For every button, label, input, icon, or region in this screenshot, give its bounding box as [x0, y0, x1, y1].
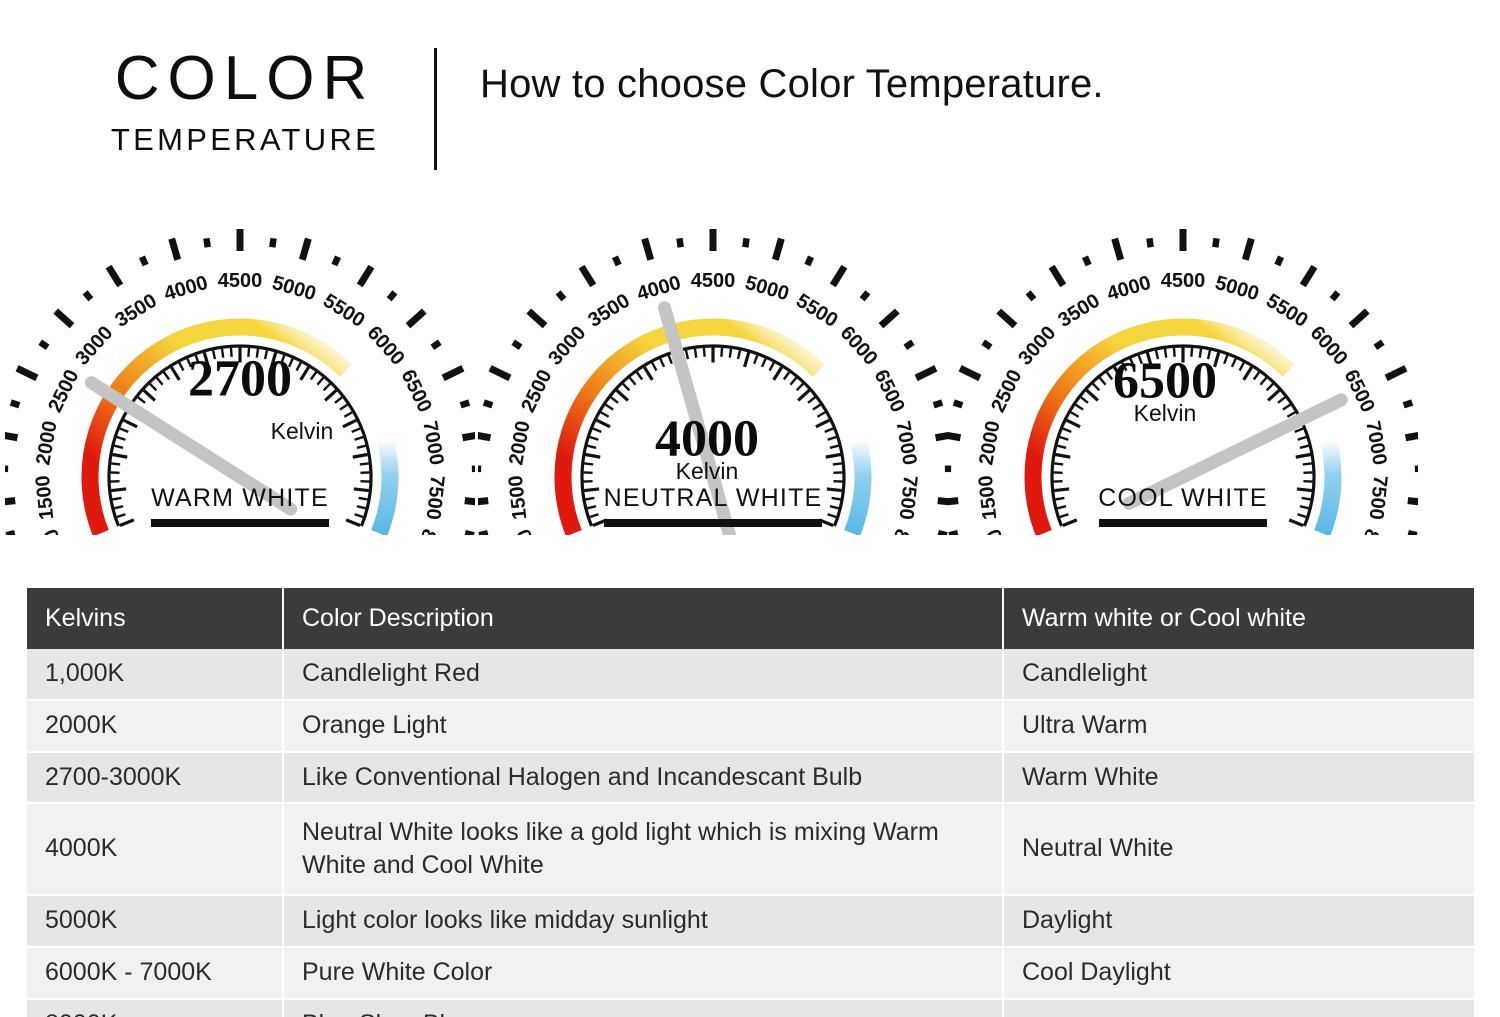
scale-label: 4500: [691, 270, 736, 292]
cell-category: [1003, 999, 1474, 1017]
scale-label: 2500: [987, 366, 1026, 416]
cell-description: Neutral White looks like a gold light wh…: [283, 803, 1003, 895]
cell-category: Neutral White: [1003, 803, 1474, 895]
table-body: 1,000KCandlelight RedCandlelight2000KOra…: [27, 649, 1474, 1017]
table-header-row: Kelvins Color Description Warm white or …: [27, 588, 1474, 649]
header-subtitle: How to choose Color Temperature.: [480, 62, 1104, 107]
gauge-caption-underline: [151, 519, 329, 527]
cell-description: Light color looks like midday sunlight: [283, 895, 1003, 947]
scale-label: 5500: [319, 290, 368, 332]
header-divider: [434, 48, 437, 170]
scale-label: 1000: [40, 526, 77, 535]
scale-label: 5000: [270, 272, 319, 305]
scale-label: 1000: [513, 526, 550, 535]
scale-label: 7000: [418, 419, 447, 467]
cell-category: Ultra Warm: [1003, 700, 1474, 752]
gauge-unit-label: Kelvin: [271, 418, 334, 444]
scale-label: 4500: [218, 270, 263, 292]
scale-label: 3500: [1054, 290, 1103, 332]
cell-description: Pure White Color: [283, 947, 1003, 999]
cell-category: Cool Daylight: [1003, 947, 1474, 999]
column-header-kelvins: Kelvins: [27, 588, 283, 649]
scale-label: 8000: [1346, 526, 1383, 535]
cell-description: Orange Light: [283, 700, 1003, 752]
scale-label: 3000: [71, 322, 117, 370]
scale-label: 3500: [584, 290, 633, 332]
gauge-caption-wrap: NEUTRAL WHITE: [478, 484, 948, 527]
table-row: 2700-3000KLike Conventional Halogen and …: [27, 752, 1474, 804]
gauge-warm-white: 1000150020002500300035004000450050005500…: [5, 205, 475, 535]
color-temperature-table: Kelvins Color Description Warm white or …: [27, 588, 1474, 1017]
brand-title-temperature: TEMPERATURE: [80, 124, 410, 155]
cell-kelvins: 1,000K: [27, 649, 283, 700]
scale-label: 7000: [1361, 419, 1390, 467]
cell-category: Warm White: [1003, 752, 1474, 804]
gauge-caption-underline: [604, 519, 822, 527]
table-row: 2000KOrange LightUltra Warm: [27, 700, 1474, 752]
cell-category: Candlelight: [1003, 649, 1474, 700]
table-row: 8000KBlue Sky - Blue: [27, 999, 1474, 1017]
gauge-value: 2700: [188, 351, 292, 408]
gauge-unit-label: Kelvin: [1134, 400, 1197, 426]
cell-category: Daylight: [1003, 895, 1474, 947]
scale-label: 3000: [1014, 322, 1060, 370]
cell-kelvins: 5000K: [27, 895, 283, 947]
scale-label: 6000: [1306, 322, 1352, 370]
scale-label: 8000: [876, 526, 913, 535]
table-row: 4000KNeutral White looks like a gold lig…: [27, 803, 1474, 895]
scale-label: 2500: [517, 366, 556, 416]
page-header: COLOR TEMPERATURE How to choose Color Te…: [0, 0, 1500, 200]
scale-label: 6000: [363, 322, 409, 370]
table-row: 6000K - 7000KPure White ColorCool Daylig…: [27, 947, 1474, 999]
scale-label: 8000: [403, 526, 440, 535]
scale-label: 4000: [1105, 272, 1154, 305]
cell-kelvins: 8000K: [27, 999, 283, 1017]
scale-label: 4000: [162, 272, 211, 305]
table-row: 1,000KCandlelight RedCandlelight: [27, 649, 1474, 700]
scale-label: 3000: [544, 322, 590, 370]
gauge-caption-underline: [1099, 519, 1267, 527]
gauge-unit-label: Kelvin: [676, 458, 739, 484]
gauge-row: 1000150020002500300035004000450050005500…: [0, 205, 1500, 545]
scale-label: 2000: [32, 419, 61, 467]
scale-label: 6500: [870, 366, 909, 416]
column-header-description: Color Description: [283, 588, 1003, 649]
scale-label: 6500: [1340, 366, 1379, 416]
gauge-caption: WARM WHITE: [5, 484, 475, 513]
scale-label: 3500: [111, 290, 160, 332]
scale-label: 5500: [1262, 290, 1311, 332]
scale-label: 4000: [635, 272, 684, 305]
color-temperature-table-wrap: Kelvins Color Description Warm white or …: [27, 588, 1474, 1017]
scale-label: 5000: [743, 272, 792, 305]
column-header-category: Warm white or Cool white: [1003, 588, 1474, 649]
scale-label: 7000: [891, 419, 920, 467]
cell-description: Like Conventional Halogen and Incandesca…: [283, 752, 1003, 804]
scale-label: 6500: [397, 366, 436, 416]
gauge-caption-wrap: COOL WHITE: [948, 484, 1418, 527]
gauge-neutral-white: 1000150020002500300035004000450050005500…: [478, 205, 948, 535]
cell-description: Candlelight Red: [283, 649, 1003, 700]
cell-kelvins: 2700-3000K: [27, 752, 283, 804]
gauge-caption-wrap: WARM WHITE: [5, 484, 475, 527]
scale-label: 2500: [44, 366, 83, 416]
cell-kelvins: 4000K: [27, 803, 283, 895]
table-row: 5000KLight color looks like midday sunli…: [27, 895, 1474, 947]
brand-block: COLOR TEMPERATURE: [80, 48, 410, 155]
cell-description: Blue Sky - Blue: [283, 999, 1003, 1017]
cell-kelvins: 2000K: [27, 700, 283, 752]
gauge-caption: NEUTRAL WHITE: [478, 484, 948, 513]
scale-label: 4500: [1161, 270, 1206, 292]
scale-label: 2000: [505, 419, 534, 467]
infographic-page: COLOR TEMPERATURE How to choose Color Te…: [0, 0, 1500, 1017]
scale-label: 2000: [975, 419, 1004, 467]
scale-label: 6000: [836, 322, 882, 370]
gauge-cool-white: 1000150020002500300035004000450050005500…: [948, 205, 1418, 535]
gauge-caption: COOL WHITE: [948, 484, 1418, 513]
cell-kelvins: 6000K - 7000K: [27, 947, 283, 999]
brand-title-color: COLOR: [80, 48, 410, 110]
scale-label: 5000: [1213, 272, 1262, 305]
scale-label: 1000: [983, 526, 1020, 535]
scale-label: 5500: [792, 290, 841, 332]
